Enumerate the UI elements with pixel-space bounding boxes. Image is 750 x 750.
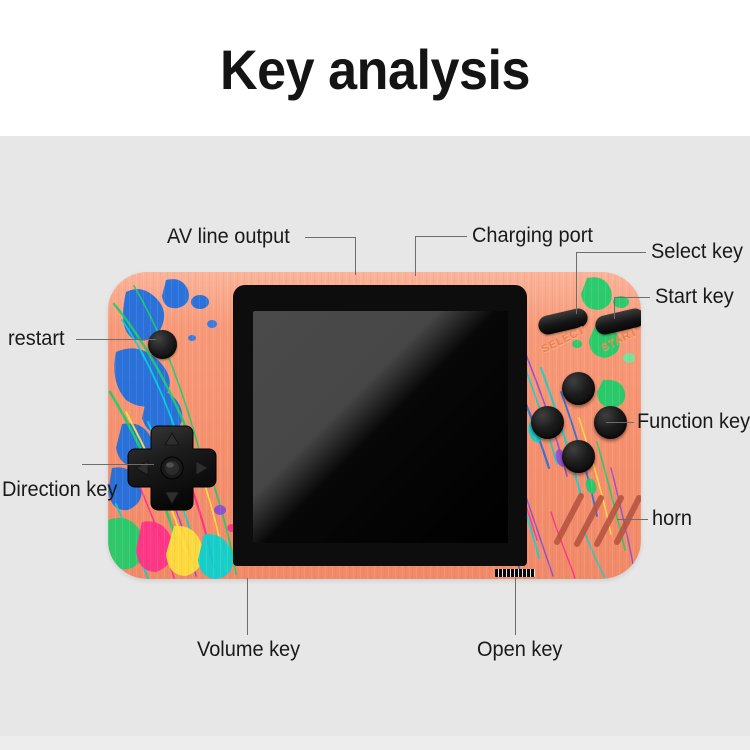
page-title: Key analysis: [26, 35, 724, 105]
leader-restart-h: [76, 339, 156, 340]
label-direction-key: Direction key: [2, 478, 117, 502]
label-start-key: Start key: [655, 285, 734, 309]
label-volume-key: Volume key: [197, 638, 300, 662]
bottom-strip: [0, 736, 750, 750]
label-function-key: Function key: [637, 410, 750, 434]
screen-bezel: [233, 285, 527, 566]
leader-select-key-h: [576, 252, 646, 253]
label-open-key: Open key: [477, 638, 562, 662]
leader-select-key-v: [576, 252, 577, 314]
restart-button[interactable]: [148, 330, 177, 359]
open-key-switch[interactable]: [495, 569, 535, 577]
direction-pad[interactable]: [127, 424, 217, 513]
label-charging-port: Charging port: [472, 224, 593, 248]
leader-open-key-v: [515, 578, 516, 635]
leader-direction-key-h: [82, 464, 154, 465]
select-key-button[interactable]: [537, 307, 590, 337]
handheld-console: SELECT START: [108, 272, 641, 579]
function-button-top[interactable]: [562, 372, 595, 405]
label-restart: restart: [8, 327, 65, 351]
leader-start-key-h: [614, 297, 650, 298]
page-root: Key analysis: [0, 0, 750, 750]
start-key-button[interactable]: [594, 307, 641, 337]
leader-volume-key-v: [247, 578, 248, 635]
leader-charging-port-v: [415, 236, 416, 276]
horn-speaker: [551, 484, 641, 550]
leader-horn-h: [617, 519, 648, 520]
function-button-bottom[interactable]: [562, 440, 595, 473]
leader-function-key-h: [606, 422, 634, 423]
function-button-left[interactable]: [531, 406, 564, 439]
leader-av-line-output-h: [305, 237, 356, 238]
label-select-key: Select key: [651, 240, 743, 264]
screen-display: [253, 311, 508, 543]
label-horn: horn: [652, 507, 692, 531]
leader-av-line-output-v: [355, 237, 356, 275]
label-av-line-output: AV line output: [167, 225, 290, 249]
leader-charging-port-h: [415, 236, 467, 237]
leader-start-key-v: [614, 297, 615, 319]
